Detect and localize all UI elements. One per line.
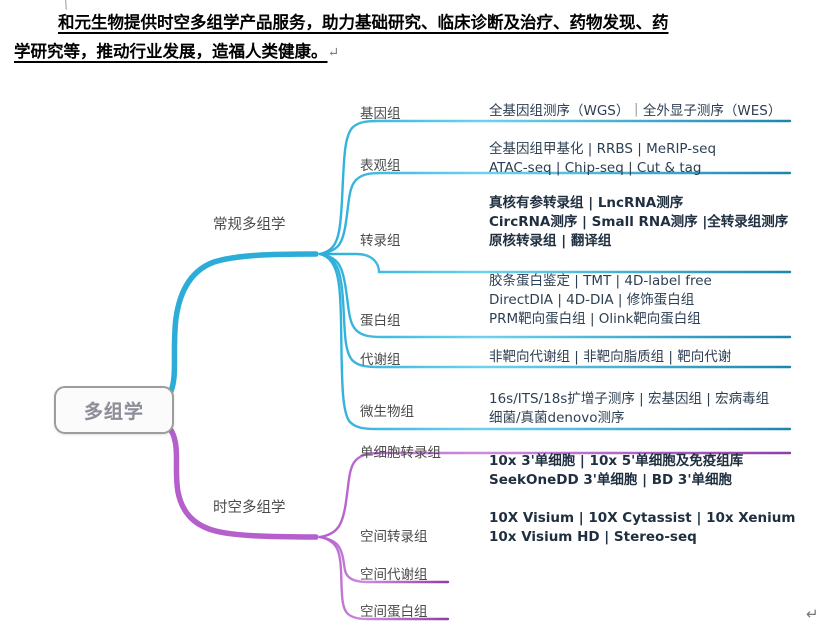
leaf-microbiome-line-1: 16s/ITS/18s扩增子测序 | 宏基因组 | 宏病毒组 <box>489 390 769 409</box>
branch-title-spatiotemporal[interactable]: 时空多组学 <box>213 496 286 517</box>
leaf-transcriptome-line-3: 原核转录组 | 翻译组 <box>489 232 611 251</box>
leaf-proteome-line-1: 胶条蛋白鉴定 | TMT | 4D-label free <box>489 272 712 291</box>
node-label-single-cell-transcriptome[interactable]: 单细胞转录组 <box>360 441 441 461</box>
leaf-single-cell-line-1: 10x 3'单细胞 | 10x 5'单细胞及免疫组库 <box>489 452 743 471</box>
leaf-proteome-line-3: PRM靶向蛋白组 | Olink靶向蛋白组 <box>489 310 701 329</box>
leaf-spatial-transcriptome-line-2: 10x Visium HD | Stereo-seq <box>489 528 697 547</box>
node-label-microbiome[interactable]: 微生物组 <box>360 400 414 420</box>
node-label-spatial-transcriptome[interactable]: 空间转录组 <box>360 525 428 545</box>
leaf-microbiome-line-2: 细菌/真菌denovo测序 <box>489 409 625 428</box>
node-label-genome[interactable]: 基因组 <box>360 102 401 122</box>
mindmap: 多组学 常规多组学 时空多组学 基因组 表观组 转录组 蛋白组 代谢组 微生物组… <box>0 0 836 631</box>
branch-title-conventional[interactable]: 常规多组学 <box>213 213 286 234</box>
mindmap-root-label: 多组学 <box>84 397 144 424</box>
node-label-spatial-proteome[interactable]: 空间蛋白组 <box>360 600 428 620</box>
node-label-epigenome[interactable]: 表观组 <box>360 154 401 174</box>
leaf-proteome-line-2: DirectDIA | 4D-DIA | 修饰蛋白组 <box>489 291 694 310</box>
leaf-epigenome-line-1: 全基因组甲基化 | RRBS | MeRIP-seq <box>489 140 716 159</box>
node-label-metabolome[interactable]: 代谢组 <box>360 348 401 368</box>
leaf-transcriptome-line-2: CircRNA测序 | Small RNA测序 |全转录组测序 <box>489 213 788 232</box>
leaf-transcriptome-line-1: 真核有参转录组 | LncRNA测序 <box>489 194 683 213</box>
mindmap-root-node[interactable]: 多组学 <box>54 386 174 434</box>
node-label-spatial-metabolome[interactable]: 空间代谢组 <box>360 563 428 583</box>
leaf-single-cell-line-2: SeekOneDD 3'单细胞 | BD 3'单细胞 <box>489 471 732 490</box>
leaf-epigenome-line-2: ATAC-seq | Chip-seq | Cut & tag <box>489 159 701 178</box>
node-label-proteome[interactable]: 蛋白组 <box>360 309 401 329</box>
leaf-metabolome-line-1: 非靶向代谢组 | 非靶向脂质组 | 靶向代谢 <box>489 348 731 367</box>
leaf-genome-line-1: 全基因组测序（WGS）｜全外显子测序（WES） <box>489 102 781 121</box>
leaf-spatial-transcriptome-line-1: 10X Visium | 10X Cytassist | 10x Xenium <box>489 509 795 528</box>
node-label-transcriptome[interactable]: 转录组 <box>360 229 401 249</box>
